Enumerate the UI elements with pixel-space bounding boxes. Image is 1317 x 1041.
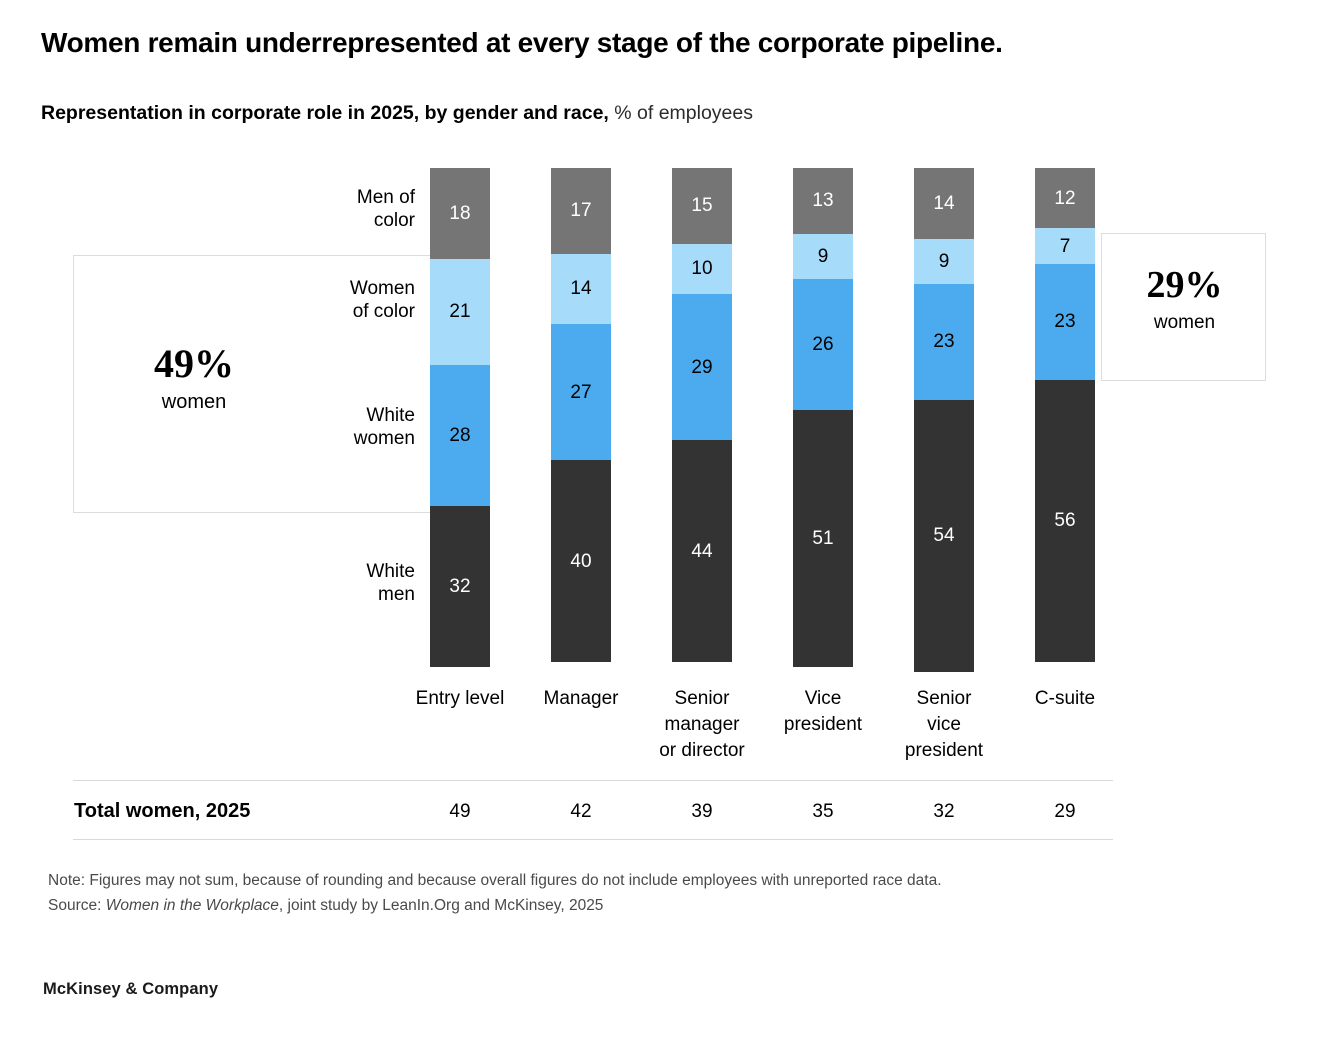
annotation-right-label: women: [1102, 312, 1267, 334]
x-axis-label-line: or director: [627, 738, 777, 764]
total-row-label: Total women, 2025: [74, 800, 250, 823]
x-axis-label-line: president: [869, 738, 1019, 764]
x-axis-label: C-suite: [990, 686, 1140, 712]
bar-segment: 51: [793, 410, 853, 667]
bar-segment-value: 32: [449, 577, 470, 596]
bar-segment: 26: [793, 279, 853, 410]
annotation-right-value: 29%: [1102, 266, 1267, 304]
series-label-women-of-color-line1: Women: [275, 277, 415, 300]
bar-segment: 7: [1035, 228, 1095, 263]
bar-segment-value: 44: [691, 542, 712, 561]
total-row-rule-top: [73, 780, 1113, 781]
series-label-white-women: White women: [275, 404, 415, 450]
series-label-white-women-line1: White: [275, 404, 415, 427]
bar-segment: 9: [793, 234, 853, 279]
x-axis-label-line: vice: [869, 712, 1019, 738]
annotation-callout-29-percent: 29% women: [1101, 233, 1266, 381]
series-label-white-men-line1: White: [275, 560, 415, 583]
series-label-men-of-color-line2: color: [275, 209, 415, 232]
footnote-source-prefix: Source:: [48, 897, 106, 914]
series-label-women-of-color-line2: of color: [275, 300, 415, 323]
bar-segment: 27: [551, 324, 611, 460]
bar-segment-value: 54: [933, 526, 954, 545]
bar-segment: 29: [672, 294, 732, 440]
bar-segment-value: 56: [1054, 511, 1075, 530]
footnote-source-suffix: , joint study by LeanIn.Org and McKinsey…: [279, 897, 604, 914]
series-label-white-men-line2: men: [275, 583, 415, 606]
bar-column: 1392651: [793, 168, 853, 672]
bar-segment-value: 28: [449, 426, 470, 445]
x-axis-label-line: C-suite: [990, 686, 1140, 712]
bar-segment: 15: [672, 168, 732, 244]
bar-segment: 17: [551, 168, 611, 254]
bar-segment-value: 23: [933, 332, 954, 351]
series-label-men-of-color: Men of color: [275, 186, 415, 232]
bar-column: 17142740: [551, 168, 611, 672]
bar-segment-value: 51: [812, 529, 833, 548]
mckinsey-logo: McKinsey & Company: [43, 980, 218, 999]
series-label-white-men: White men: [275, 560, 415, 606]
bar-segment: 32: [430, 506, 490, 667]
bar-segment-value: 23: [1054, 312, 1075, 331]
bar-segment: 13: [793, 168, 853, 234]
bar-segment: 10: [672, 244, 732, 294]
annotation-left-label: women: [104, 391, 284, 414]
bar-segment: 54: [914, 400, 974, 672]
series-label-white-women-line2: women: [275, 427, 415, 450]
total-row-value: 49: [430, 801, 490, 823]
bar-segment-value: 12: [1054, 189, 1075, 208]
bar-segment: 14: [551, 254, 611, 325]
bar-segment-value: 27: [570, 383, 591, 402]
bar-segment-value: 17: [570, 201, 591, 220]
bar-segment-value: 40: [570, 552, 591, 571]
bar-segment-value: 13: [812, 191, 833, 210]
bar-segment-value: 15: [691, 196, 712, 215]
bar-segment-value: 14: [933, 194, 954, 213]
bar-segment-value: 7: [1060, 237, 1071, 256]
bar-segment: 9: [914, 239, 974, 284]
footnote-note: Note: Figures may not sum, because of ro…: [48, 868, 1228, 893]
bar-segment-value: 29: [691, 358, 712, 377]
bar-segment: 40: [551, 460, 611, 662]
total-row-value: 32: [914, 801, 974, 823]
bar-segment: 44: [672, 440, 732, 662]
bar-segment: 56: [1035, 380, 1095, 662]
bar-segment: 21: [430, 259, 490, 365]
bar-segment-value: 14: [570, 279, 591, 298]
bar-column: 18212832: [430, 168, 490, 672]
total-row-value: 42: [551, 801, 611, 823]
bar-column: 1272356: [1035, 168, 1095, 672]
total-row-rule-bottom: [73, 839, 1113, 840]
bar-segment: 23: [1035, 264, 1095, 380]
bar-segment-value: 9: [818, 247, 829, 266]
bar-segment-value: 21: [449, 302, 470, 321]
bar-segment-value: 18: [449, 204, 470, 223]
bar-segment: 12: [1035, 168, 1095, 228]
bar-segment-value: 10: [691, 259, 712, 278]
footnotes: Note: Figures may not sum, because of ro…: [48, 868, 1228, 918]
bar-segment: 18: [430, 168, 490, 259]
annotation-left-value: 49%: [104, 344, 284, 384]
footnote-source-title: Women in the Workplace: [106, 897, 279, 914]
bar-column: 15102944: [672, 168, 732, 672]
bar-segment: 28: [430, 365, 490, 506]
bar-segment: 14: [914, 168, 974, 239]
footnote-source: Source: Women in the Workplace, joint st…: [48, 893, 1228, 918]
series-label-men-of-color-line1: Men of: [275, 186, 415, 209]
total-row-value: 39: [672, 801, 732, 823]
bar-segment: 23: [914, 284, 974, 400]
total-row-value: 29: [1035, 801, 1095, 823]
series-label-women-of-color: Women of color: [275, 277, 415, 323]
bar-column: 1492354: [914, 168, 974, 672]
total-row-value: 35: [793, 801, 853, 823]
bar-segment-value: 26: [812, 335, 833, 354]
bar-segment-value: 9: [939, 252, 950, 271]
